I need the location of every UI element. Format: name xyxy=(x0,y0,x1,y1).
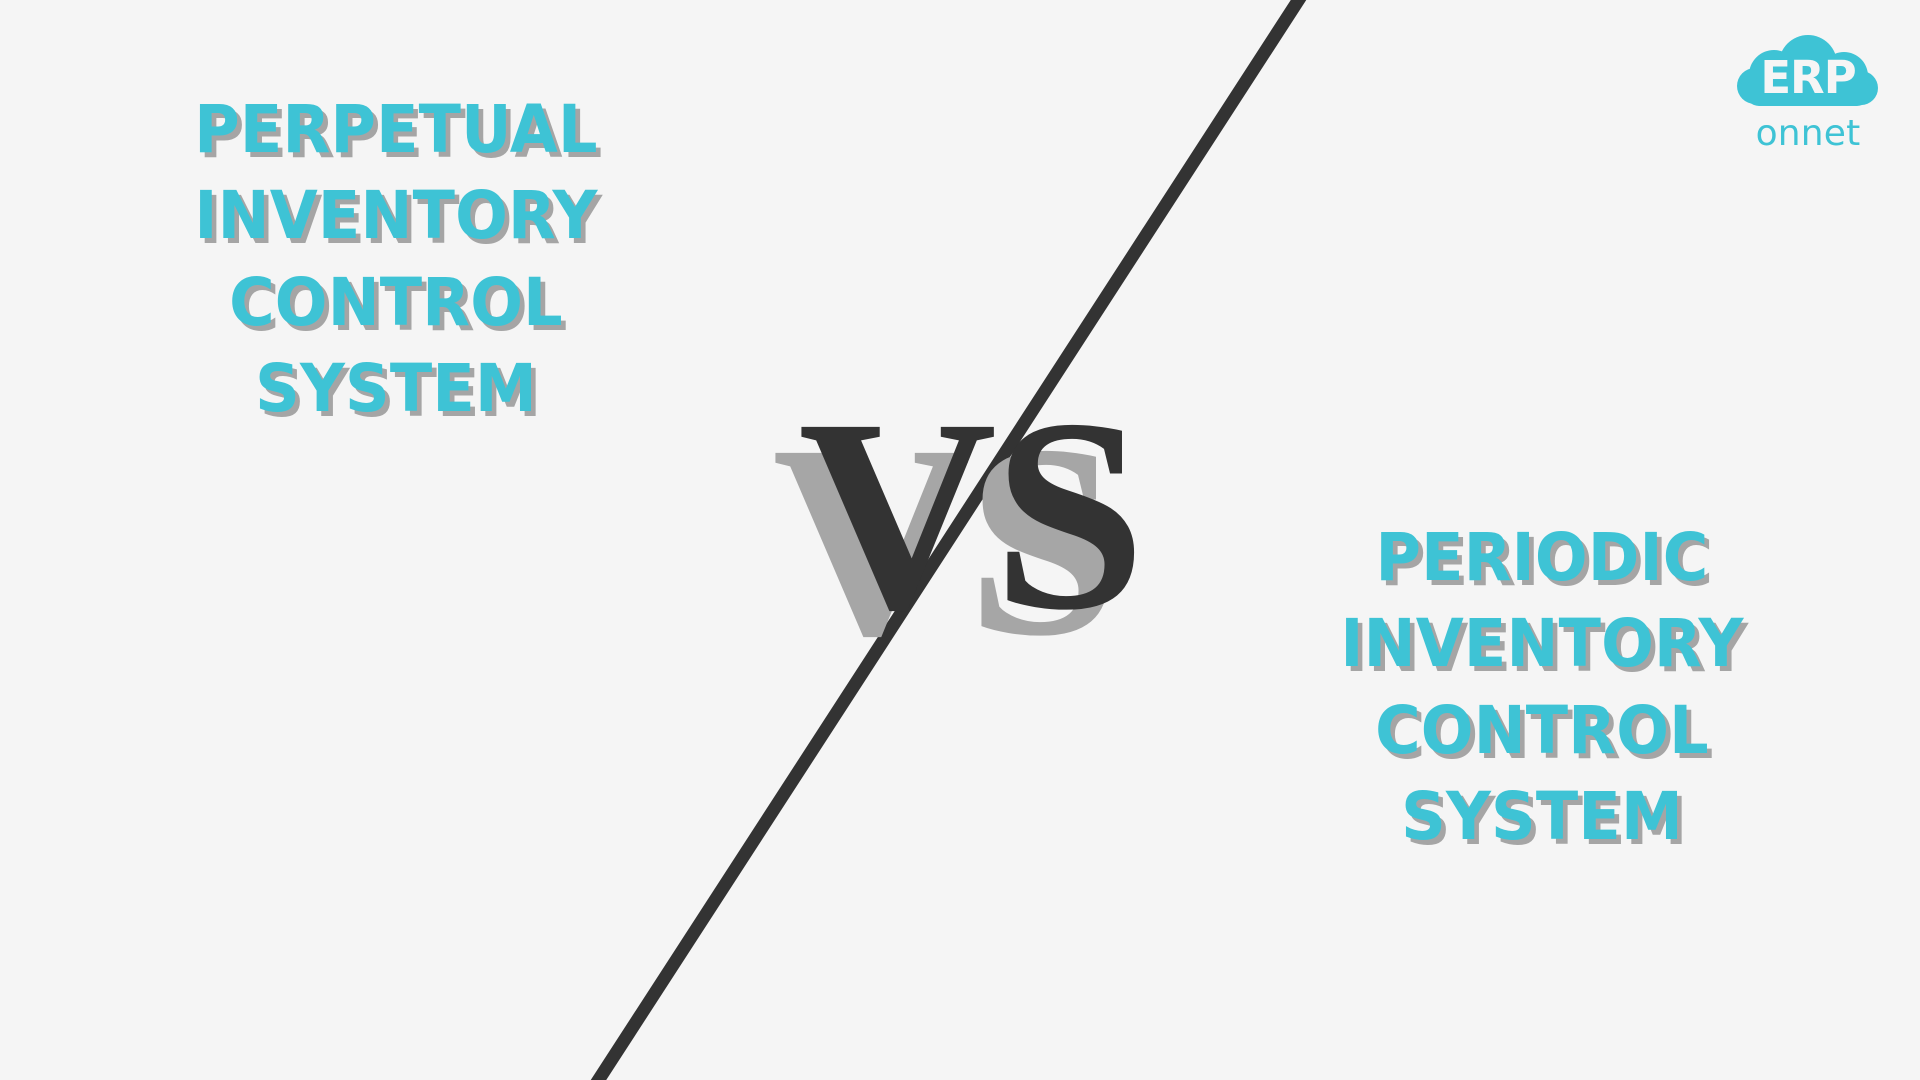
left-title-line-1: PERPETUAL xyxy=(114,96,678,182)
logo-wordmark: onnet xyxy=(1728,114,1888,154)
right-title-line-1: PERIODIC xyxy=(1260,524,1824,610)
left-title-line-4: SYSTEM xyxy=(114,355,678,441)
left-title-line-2: INVENTORY xyxy=(114,182,678,268)
left-title-block: PERPETUAL INVENTORY CONTROL SYSTEM xyxy=(96,96,696,441)
right-title-block: PERIODIC INVENTORY CONTROL SYSTEM xyxy=(1242,524,1842,869)
right-title-line-2: INVENTORY xyxy=(1260,610,1824,696)
cloud-icon: ERP xyxy=(1728,34,1888,116)
versus-text: VS xyxy=(690,370,1250,660)
brand-logo[interactable]: ERP onnet xyxy=(1728,34,1888,158)
right-title-line-4: SYSTEM xyxy=(1260,783,1824,869)
left-title-line-3: CONTROL xyxy=(114,269,678,355)
cloud-body xyxy=(1737,35,1878,106)
versus-mark: VS VS xyxy=(690,370,1250,660)
slide-canvas: PERPETUAL INVENTORY CONTROL SYSTEM VS VS… xyxy=(0,0,1920,1080)
right-title-line-3: CONTROL xyxy=(1260,697,1824,783)
